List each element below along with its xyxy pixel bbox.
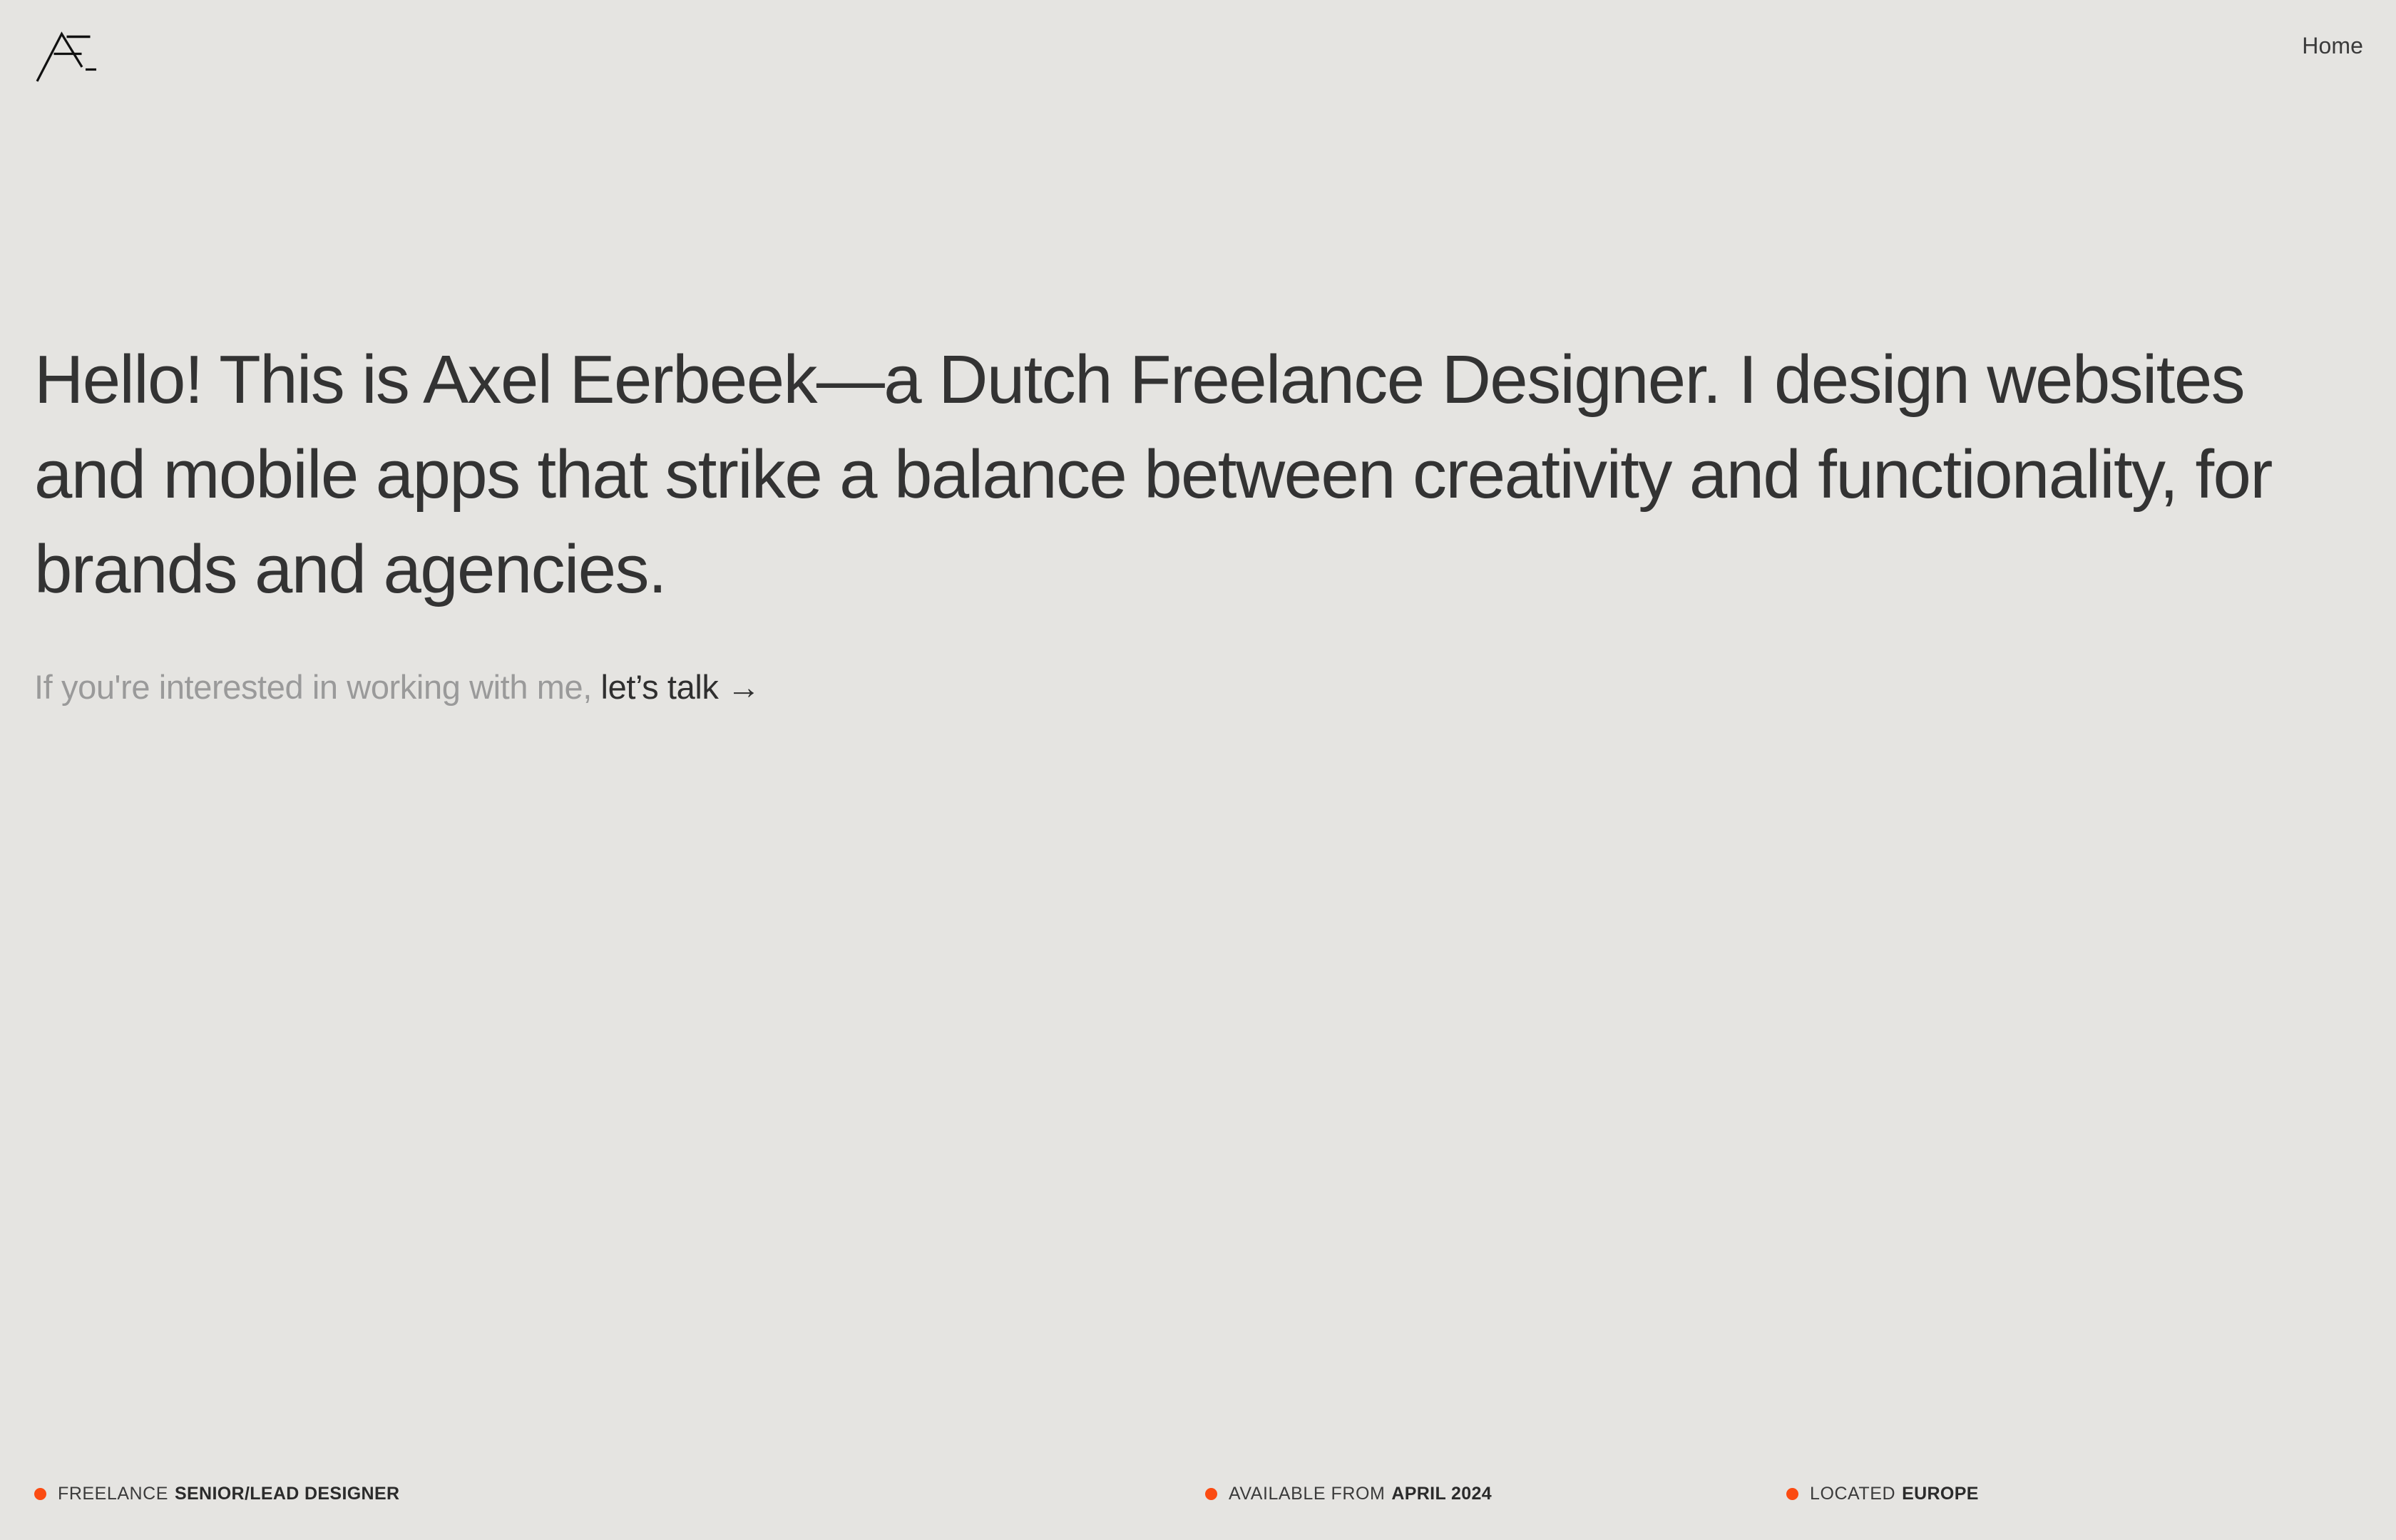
ae-monogram-icon [34,30,103,86]
hero-section: Hello! This is Axel Eerbeek—a Dutch Free… [34,332,2366,709]
status-dot-icon [34,1488,46,1500]
status-bar: FREELANCE SENIOR/LEAD DESIGNER AVAILABLE… [0,1479,2396,1508]
subline-prefix-text: If you're interested in working with me, [34,668,601,706]
status-dot-icon [1786,1488,1798,1500]
logo-ae-monogram[interactable] [34,30,103,86]
status-label: AVAILABLE FROM [1229,1485,1385,1503]
status-value: APRIL 2024 [1391,1485,1492,1503]
status-item-location: LOCATED EUROPE [1786,1479,1979,1508]
status-item-availability: AVAILABLE FROM APRIL 2024 [1205,1479,1492,1508]
status-label: LOCATED [1810,1485,1895,1503]
status-value: EUROPE [1902,1485,1979,1503]
primary-nav: Home [2302,30,2363,57]
page-headline: Hello! This is Axel Eerbeek—a Dutch Free… [34,332,2338,617]
lets-talk-link[interactable]: let’s talk→ [601,668,761,706]
lets-talk-label: let’s talk [601,668,719,706]
site-header: Home [0,0,2396,107]
nav-item-home[interactable]: Home [2302,34,2363,57]
arrow-right-icon: → [718,665,760,709]
hero-subline: If you're interested in working with me,… [34,617,2366,709]
status-value: SENIOR/LEAD DESIGNER [175,1485,399,1503]
status-label: FREELANCE [58,1485,168,1503]
status-item-freelance: FREELANCE SENIOR/LEAD DESIGNER [34,1479,399,1508]
status-dot-icon [1205,1488,1217,1500]
